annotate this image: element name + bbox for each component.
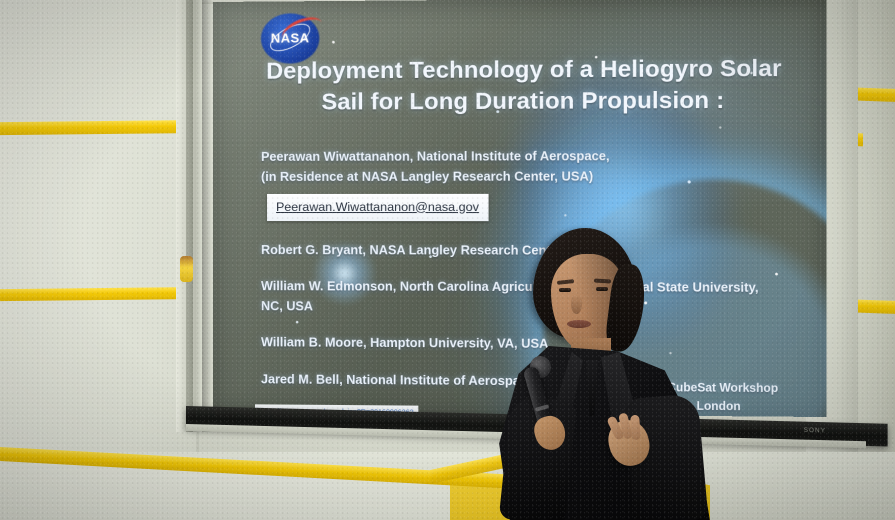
lecture-photo-scene: NASA Deployment Technology of a Heliogyr… — [0, 0, 895, 520]
rail-cast-shadow — [202, 0, 212, 432]
rail-latch-knob[interactable] — [180, 256, 193, 282]
nasa-logo-wordmark: NASA — [261, 30, 319, 45]
author-email-highlight: Peerawan.Wiwattananon@nasa.gov — [267, 193, 488, 220]
tray-brand-label: SONY — [804, 428, 826, 435]
speaker-eye-left — [559, 288, 571, 292]
author-line: (in Residence at NASA Langley Research C… — [261, 167, 819, 186]
speaker — [497, 228, 712, 520]
speaker-finger — [630, 415, 641, 441]
speaker-nose — [571, 294, 582, 314]
speaker-mouth — [567, 320, 591, 328]
slide-title: Deployment Technology of a Heliogyro Sol… — [253, 52, 795, 117]
speaker-eye-right — [596, 287, 608, 291]
slide-title-line-1: Deployment Technology of a Heliogyro Sol… — [253, 52, 795, 86]
screen-rail-groove — [186, 0, 193, 432]
author-line: Peerawan Wiwattananon, National Institut… — [261, 147, 819, 167]
author-email-link[interactable]: Peerawan.Wiwattananon@nasa.gov — [276, 199, 479, 213]
slide-title-line-2: Sail for Long Duration Propulsion : — [253, 84, 795, 118]
